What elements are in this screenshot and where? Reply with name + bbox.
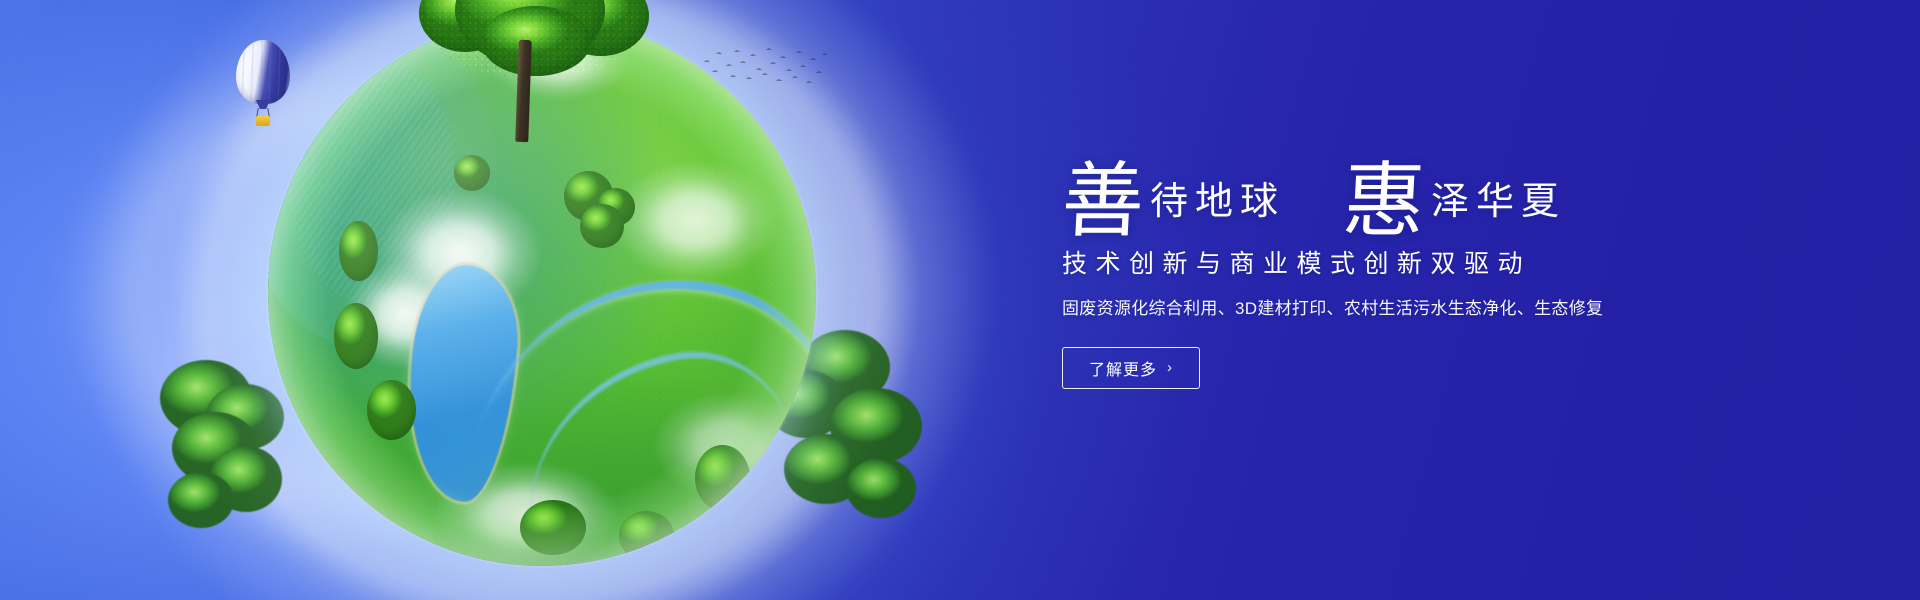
tree-clump [619,511,674,560]
tree-clump [695,445,750,511]
page-title: 善 待地球 惠 泽华夏 [1062,138,1762,234]
hero-banner: 善 待地球 惠 泽华夏 技术创新与商业模式创新双驱动 固废资源化综合利用、3D建… [0,0,1920,600]
globe-sphere [268,18,816,566]
headline-text-2: 泽华夏 [1425,182,1566,220]
tree-clump [334,303,378,369]
earth-globe [268,18,816,566]
chevron-right-icon: › [1167,360,1173,375]
bird-flock-icon [700,46,830,92]
hero-subtitle: 技术创新与商业模式创新双驱动 [1062,248,1762,282]
tree-clump [454,155,490,191]
tree-clump [367,380,416,440]
headline-char-1: 善 [1060,163,1146,240]
learn-more-button[interactable]: 了解更多 › [1062,347,1200,389]
hero-content: 善 待地球 惠 泽华夏 技术创新与商业模式创新双驱动 固废资源化综合利用、3D建… [1062,138,1762,389]
hero-description: 固废资源化综合利用、3D建材打印、农村生活污水生态净化、生态修复 [1062,296,1762,322]
globe-cloud [613,160,777,281]
headline-text-1: 待地球 [1144,182,1285,220]
tree-clump [339,221,377,281]
learn-more-label: 了解更多 [1089,356,1157,380]
tree-clump [520,500,586,555]
globe-cloud [487,23,629,100]
headline-char-2: 惠 [1341,163,1427,240]
